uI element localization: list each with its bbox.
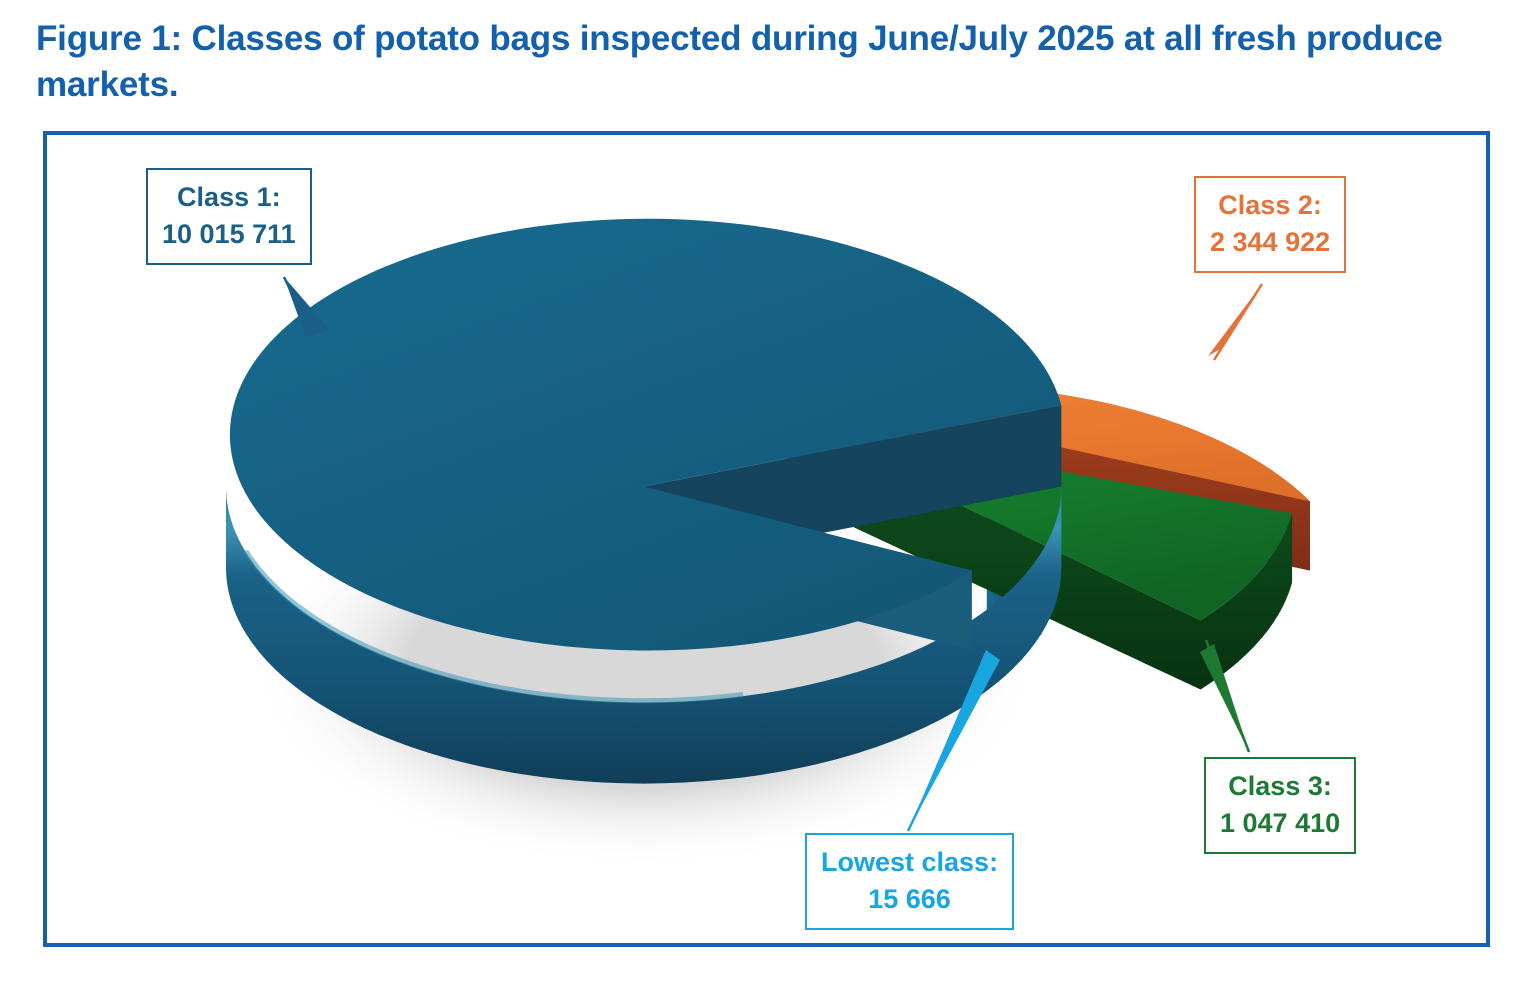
callout-lowest-class[interactable]: Lowest class: 15 666	[805, 833, 1014, 930]
callout-class-3[interactable]: Class 3: 1 047 410	[1204, 757, 1356, 854]
callout-class-1-label: Class 1:	[162, 179, 296, 216]
pie-slice-class-1[interactable]	[226, 219, 1061, 784]
callout-class-2-label: Class 2:	[1210, 187, 1330, 224]
callout-class-1[interactable]: Class 1: 10 015 711	[146, 168, 312, 265]
callout-lowest-class-value: 15 666	[821, 881, 998, 918]
callout-class-2[interactable]: Class 2: 2 344 922	[1194, 176, 1346, 273]
callout-lowest-class-label: Lowest class:	[821, 844, 998, 881]
callout-class-3-value: 1 047 410	[1220, 805, 1340, 842]
callout-class-2-value: 2 344 922	[1210, 224, 1330, 261]
page-title: Figure 1: Classes of potato bags inspect…	[36, 16, 1476, 108]
callout-class-1-value: 10 015 711	[162, 216, 296, 253]
callout-class-3-label: Class 3:	[1220, 768, 1340, 805]
